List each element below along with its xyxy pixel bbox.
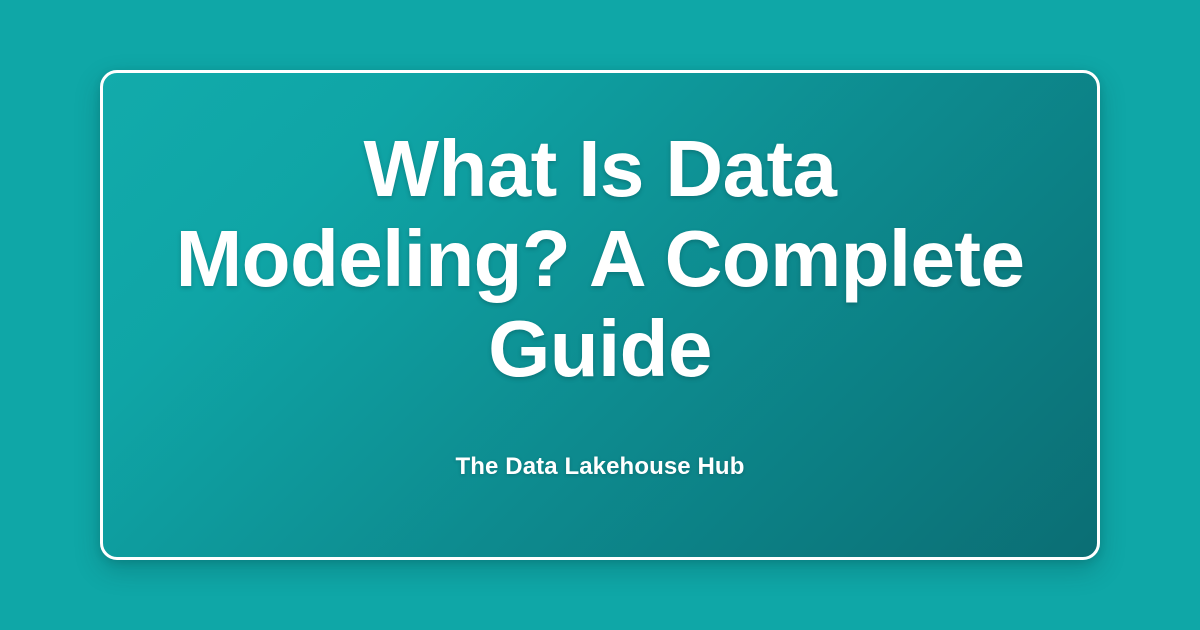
page-title: What Is Data Modeling? A Complete Guide [163,124,1037,394]
site-name-subtitle: The Data Lakehouse Hub [456,394,745,482]
share-banner: What Is Data Modeling? A Complete Guide … [0,0,1200,630]
banner-card: What Is Data Modeling? A Complete Guide … [100,70,1100,560]
banner-card-content: What Is Data Modeling? A Complete Guide … [103,124,1097,482]
